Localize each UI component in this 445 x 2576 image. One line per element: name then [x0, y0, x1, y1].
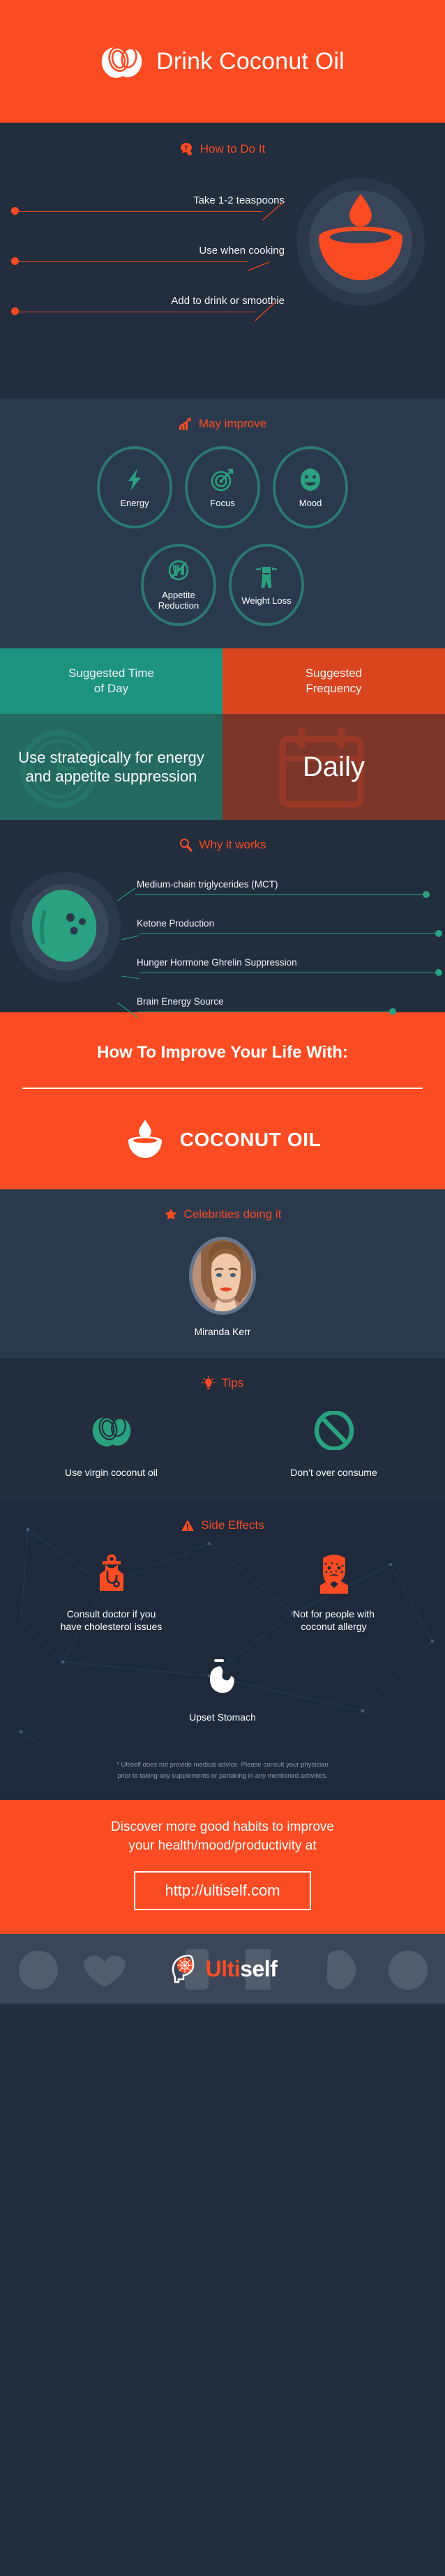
- how-to-step: Use when cooking: [0, 222, 293, 272]
- suggested-time-body: Use strategically for energy and appetit…: [0, 714, 222, 820]
- benefit-circle-mood: Mood: [273, 446, 348, 528]
- prohibition-sign-icon: [313, 1411, 355, 1450]
- step-diagonal-connector: [248, 251, 272, 272]
- suggested-time-header-line2: of Day: [68, 681, 154, 696]
- why-diagonal-connector: [121, 959, 144, 980]
- allergic-face-icon: [315, 1553, 354, 1594]
- why-it-works-section: Why it works Medium-chain triglycerides …: [0, 820, 445, 1012]
- footer: Ultiself: [0, 1934, 445, 2004]
- step-diagonal-connector: [262, 201, 286, 222]
- cta-text: Discover more good habits to improve you…: [20, 1818, 425, 1856]
- how-to-step: Add to drink or smoothie: [0, 272, 293, 322]
- brain-head-icon: [168, 1953, 200, 1985]
- tip-label: Use virgin coconut oil: [0, 1467, 222, 1479]
- benefit-label: Mood: [299, 498, 322, 509]
- bar-chart-up-icon: [179, 417, 193, 431]
- tip-item: Don’t over consume: [222, 1411, 445, 1479]
- coconut-halves-icon: [100, 42, 144, 81]
- promo-divider: [22, 1088, 423, 1089]
- no-food-icon: [165, 558, 192, 585]
- why-diagonal-connector: [117, 998, 142, 1019]
- how-to-do-it-section: ? How to Do It Take 1-2 teaspoons: [0, 123, 445, 399]
- why-bullet-dot: [435, 969, 442, 976]
- suggested-frequency-value: Daily: [303, 749, 365, 784]
- why-bullet-dot: [435, 930, 442, 937]
- tips-heading: Tips: [0, 1376, 445, 1390]
- benefit-label: Appetite Reduction: [148, 590, 209, 611]
- tip-label: Don’t over consume: [222, 1467, 445, 1479]
- how-to-steps: Take 1-2 teaspoons Use when cooking Add …: [0, 172, 293, 322]
- step-connector-line: [15, 312, 255, 313]
- coconut-halves-icon: [91, 1411, 133, 1450]
- celebrities-heading: Celebrities doing it: [0, 1207, 445, 1221]
- side-effect-item: Consult doctor if you have cholesterol i…: [0, 1553, 222, 1633]
- benefit-label: Energy: [120, 498, 149, 509]
- stomach-icon: [203, 1656, 242, 1697]
- cta-url-button[interactable]: http://ultiself.com: [134, 1871, 310, 1910]
- suggested-frequency-column: Suggested Frequency Daily: [222, 648, 445, 820]
- why-bullet-dot: [423, 891, 430, 898]
- may-improve-heading-label: May improve: [199, 417, 266, 431]
- page-title: Drink Coconut Oil: [156, 48, 345, 75]
- why-connector-line: [139, 933, 435, 934]
- why-connector-line: [135, 894, 423, 895]
- suggested-table: Suggested Time of Day Use strategically …: [0, 648, 445, 820]
- side-effects-section: Side Effects: [0, 1502, 445, 1745]
- side-effect-label-line1: Consult doctor if you: [0, 1608, 222, 1620]
- why-item: Medium-chain triglycerides (MCT): [117, 863, 445, 902]
- why-it-works-items: Medium-chain triglycerides (MCT) Ketone …: [117, 863, 445, 1019]
- star-icon: [164, 1207, 178, 1221]
- celebrity-name: Miranda Kerr: [0, 1326, 445, 1337]
- benefit-circle-energy: Energy: [97, 446, 172, 528]
- warning-triangle-icon: [181, 1518, 195, 1532]
- benefit-circle-weight-loss: Weight Loss: [229, 544, 304, 626]
- why-item-label: Medium-chain triglycerides (MCT): [137, 879, 278, 890]
- side-effects-content: Side Effects: [0, 1518, 445, 1724]
- lightning-bolt-icon: [121, 466, 148, 493]
- side-effect-label-line1: Not for people with: [222, 1608, 445, 1620]
- tips-heading-label: Tips: [222, 1376, 244, 1390]
- step-diagonal-connector: [255, 301, 279, 322]
- suggested-frequency-header-line1: Suggested: [306, 666, 362, 681]
- cta-line1: Discover more good habits to improve: [20, 1818, 425, 1837]
- step-connector-line: [15, 261, 248, 263]
- tip-item: Use virgin coconut oil: [0, 1411, 222, 1479]
- tips-items: Use virgin coconut oil Don’t over consum…: [0, 1411, 445, 1479]
- disclaimer: * Ultiself does not provide medical advi…: [0, 1744, 445, 1800]
- coconut-icon: [10, 871, 121, 983]
- brand-word-first: Ulti: [206, 1956, 241, 1981]
- promo-subject-row: COCONUT OIL: [0, 1118, 445, 1161]
- question-speech-bubble-icon: ?: [180, 142, 194, 156]
- header: Drink Coconut Oil: [0, 0, 445, 123]
- oil-lamp-flame-icon: [296, 177, 425, 307]
- brand-wordmark: Ultiself: [206, 1956, 278, 1982]
- cta-line2: your health/mood/productivity at: [20, 1837, 425, 1856]
- svg-text:?: ?: [184, 144, 188, 151]
- promo-subject: COCONUT OIL: [180, 1129, 322, 1151]
- benefit-circle-appetite-reduction: Appetite Reduction: [141, 544, 216, 626]
- disclaimer-line2: prior to taking any supplements or parta…: [24, 1771, 421, 1782]
- promo-title: How To Improve Your Life With:: [0, 1043, 445, 1062]
- promo-section: How To Improve Your Life With: COCONUT O…: [0, 1012, 445, 1189]
- brand-logo: Ultiself: [168, 1953, 278, 1985]
- smiley-face-icon: [297, 466, 324, 493]
- side-effect-label: Upset Stomach: [0, 1711, 445, 1723]
- why-diagonal-connector: [121, 920, 144, 941]
- suggested-time-value: Use strategically for energy and appetit…: [10, 748, 213, 786]
- celebrities-section: Celebrities doing it Miranda Kerr: [0, 1189, 445, 1358]
- why-diagonal-connector: [117, 881, 139, 902]
- side-effects-heading: Side Effects: [0, 1518, 445, 1532]
- why-item: Hunger Hormone Ghrelin Suppression: [117, 941, 445, 980]
- side-effect-item: Not for people with coconut allergy: [222, 1553, 445, 1633]
- celebrities-heading-label: Celebrities doing it: [184, 1207, 282, 1221]
- why-item-label: Brain Energy Source: [137, 996, 224, 1007]
- side-effect-items: Consult doctor if you have cholesterol i…: [0, 1553, 445, 1633]
- cta-section: Discover more good habits to improve you…: [0, 1800, 445, 1934]
- why-connector-line: [138, 1012, 389, 1012]
- benefit-circle-focus: Focus: [185, 446, 260, 528]
- side-effect-label-line2: have cholesterol issues: [0, 1620, 222, 1633]
- why-item: Brain Energy Source: [117, 980, 445, 1019]
- tips-section: Tips Use: [0, 1358, 445, 1502]
- benefit-row-2: Appetite Reduction: [0, 544, 445, 626]
- waist-slim-icon: [253, 564, 280, 590]
- side-effect-label: Not for people with coconut allergy: [222, 1608, 445, 1633]
- disclaimer-line1: * Ultiself does not provide medical advi…: [24, 1760, 421, 1771]
- suggested-frequency-body: Daily: [222, 714, 445, 820]
- why-item-label: Ketone Production: [137, 918, 214, 929]
- side-effect-label-line2: coconut allergy: [222, 1620, 445, 1633]
- why-it-works-heading-label: Why it works: [199, 838, 266, 852]
- doctor-icon: [92, 1553, 131, 1594]
- suggested-frequency-header: Suggested Frequency: [222, 648, 445, 714]
- brand-word-second: self: [240, 1956, 277, 1981]
- suggested-frequency-header-line2: Frequency: [306, 681, 362, 696]
- may-improve-heading: May improve: [0, 417, 445, 431]
- benefit-label: Weight Loss: [241, 596, 291, 607]
- why-it-works-heading: Why it works: [0, 838, 445, 852]
- lightbulb-icon: [202, 1376, 216, 1390]
- side-effect-item: Upset Stomach: [0, 1656, 445, 1723]
- step-connector-line: [15, 211, 262, 213]
- magnifier-icon: [179, 838, 193, 852]
- oil-drop-bowl-icon: [124, 1118, 166, 1161]
- how-to-heading-label: How to Do It: [200, 142, 266, 156]
- why-connector-line: [139, 973, 435, 973]
- side-effect-label: Consult doctor if you have cholesterol i…: [0, 1608, 222, 1633]
- why-item: Ketone Production: [117, 902, 445, 941]
- side-effects-heading-label: Side Effects: [201, 1518, 264, 1532]
- benefit-label: Focus: [210, 498, 234, 509]
- why-item-label: Hunger Hormone Ghrelin Suppression: [137, 957, 297, 968]
- why-bullet-dot: [389, 1008, 396, 1015]
- suggested-time-column: Suggested Time of Day Use strategically …: [0, 648, 222, 820]
- suggested-time-header: Suggested Time of Day: [0, 648, 222, 714]
- how-to-step: Take 1-2 teaspoons: [0, 172, 293, 222]
- infographic-page: Drink Coconut Oil ? How to Do It: [0, 0, 445, 2576]
- suggested-time-header-line1: Suggested Time: [68, 666, 154, 681]
- target-arrow-icon: [209, 466, 236, 493]
- may-improve-section: May improve Energy: [0, 399, 445, 648]
- how-to-heading: ? How to Do It: [0, 142, 445, 156]
- avatar: [189, 1237, 256, 1315]
- benefit-row-1: Energy Focus: [0, 446, 445, 528]
